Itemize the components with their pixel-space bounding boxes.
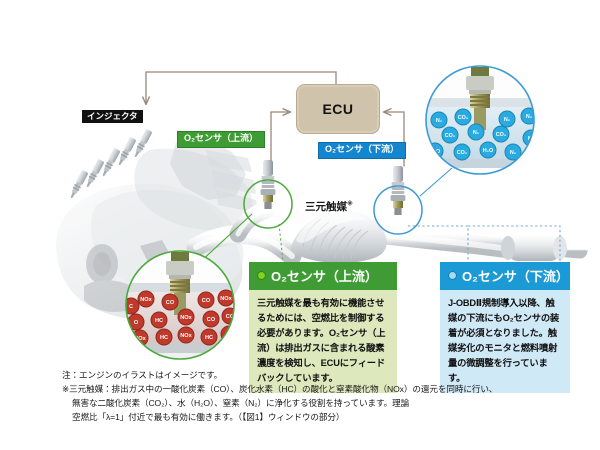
svg-text:N₂: N₂: [510, 150, 517, 156]
panel-o2-upstream-title: O₂センサ（上流）: [271, 266, 378, 285]
panel-o2-upstream-header: O₂センサ（上流）: [249, 262, 397, 290]
inset-downstream-molecules: N₂ CO₂ N₂ N₂ CO₂ N₂ CO₂ N₂ H₂O CO₂ H₂O N…: [426, 66, 539, 174]
o2-upstream-tag: O₂センサ（上流）: [177, 131, 265, 148]
footnote-line-4: 空燃比「λ=1」付近で最も有効に働きます。（【図1】ウィンドウの部分）: [62, 411, 582, 425]
sensor-dot-icon: [257, 271, 266, 280]
svg-text:N₂: N₂: [436, 118, 443, 124]
footnote-line-1: 注：エンジンのイラストはイメージです。: [62, 369, 582, 383]
svg-text:H: H: [227, 332, 231, 338]
svg-text:H₂O: H₂O: [483, 148, 493, 154]
svg-text:N₂: N₂: [526, 114, 533, 120]
svg-text:CO: CO: [207, 317, 216, 323]
svg-text:CO₂: CO₂: [458, 115, 469, 121]
o2-sensor-downstream-on-pipe: [391, 166, 406, 215]
svg-text:O: O: [134, 320, 139, 326]
diagram-root: NOx CO CO NOx C O HC NOx CO CO NOx HC NO…: [0, 0, 600, 450]
ecu-box: ECU: [296, 84, 380, 134]
arrow-upstream-to-ecu: [271, 112, 290, 160]
footnotes: 注：エンジンのイラストはイメージです。 ※三元触媒：排出ガス中の一酸化炭素（CO…: [62, 369, 582, 425]
svg-text:NOx: NOx: [220, 296, 232, 302]
svg-text:HC: HC: [205, 335, 213, 341]
footnote-line-2: ※三元触媒：排出ガス中の一酸化炭素（CO）、炭化水素（HC）の酸化と窒素酸化物（…: [62, 383, 582, 397]
catalytic-converter-label: 三元触媒※: [305, 199, 353, 214]
footnote-line-3: 無害な二酸化炭素（CO₂）、水（H₂O）、窒素（N₂）に浄化する役割を持っていま…: [62, 397, 582, 411]
o2-downstream-tag: O₂センサ（下流）: [318, 142, 406, 159]
svg-text:N₂: N₂: [504, 117, 511, 123]
svg-text:NOx: NOx: [140, 297, 152, 303]
ecu-label: ECU: [322, 101, 353, 117]
svg-text:CO₂: CO₂: [445, 133, 456, 139]
o2-sensor-upstream-on-pipe: [261, 160, 276, 209]
panel-o2-downstream-header: O₂センサ（下流）: [440, 262, 570, 290]
injector-tag: インジェクタ: [82, 110, 143, 123]
svg-text:NOx: NOx: [180, 315, 192, 321]
exhaust-system: [196, 210, 580, 263]
catalytic-converter-label-text: 三元触媒: [305, 201, 347, 213]
svg-text:NOx: NOx: [180, 333, 192, 339]
catalytic-converter: [291, 210, 387, 263]
svg-text:C: C: [129, 304, 133, 310]
panel-o2-downstream-title: O₂センサ（下流）: [462, 266, 569, 285]
svg-text:CO₂: CO₂: [457, 150, 468, 156]
svg-text:CO: CO: [202, 298, 211, 304]
svg-text:HC: HC: [155, 318, 163, 324]
sensor-dot-icon: [448, 271, 457, 280]
catalytic-converter-footnote-marker: ※: [347, 202, 353, 208]
svg-text:N₂: N₂: [473, 130, 480, 136]
svg-text:CO: CO: [166, 300, 175, 306]
svg-text:HC: HC: [160, 335, 168, 341]
muffler: [501, 235, 567, 261]
svg-text:CO₂: CO₂: [496, 132, 507, 138]
